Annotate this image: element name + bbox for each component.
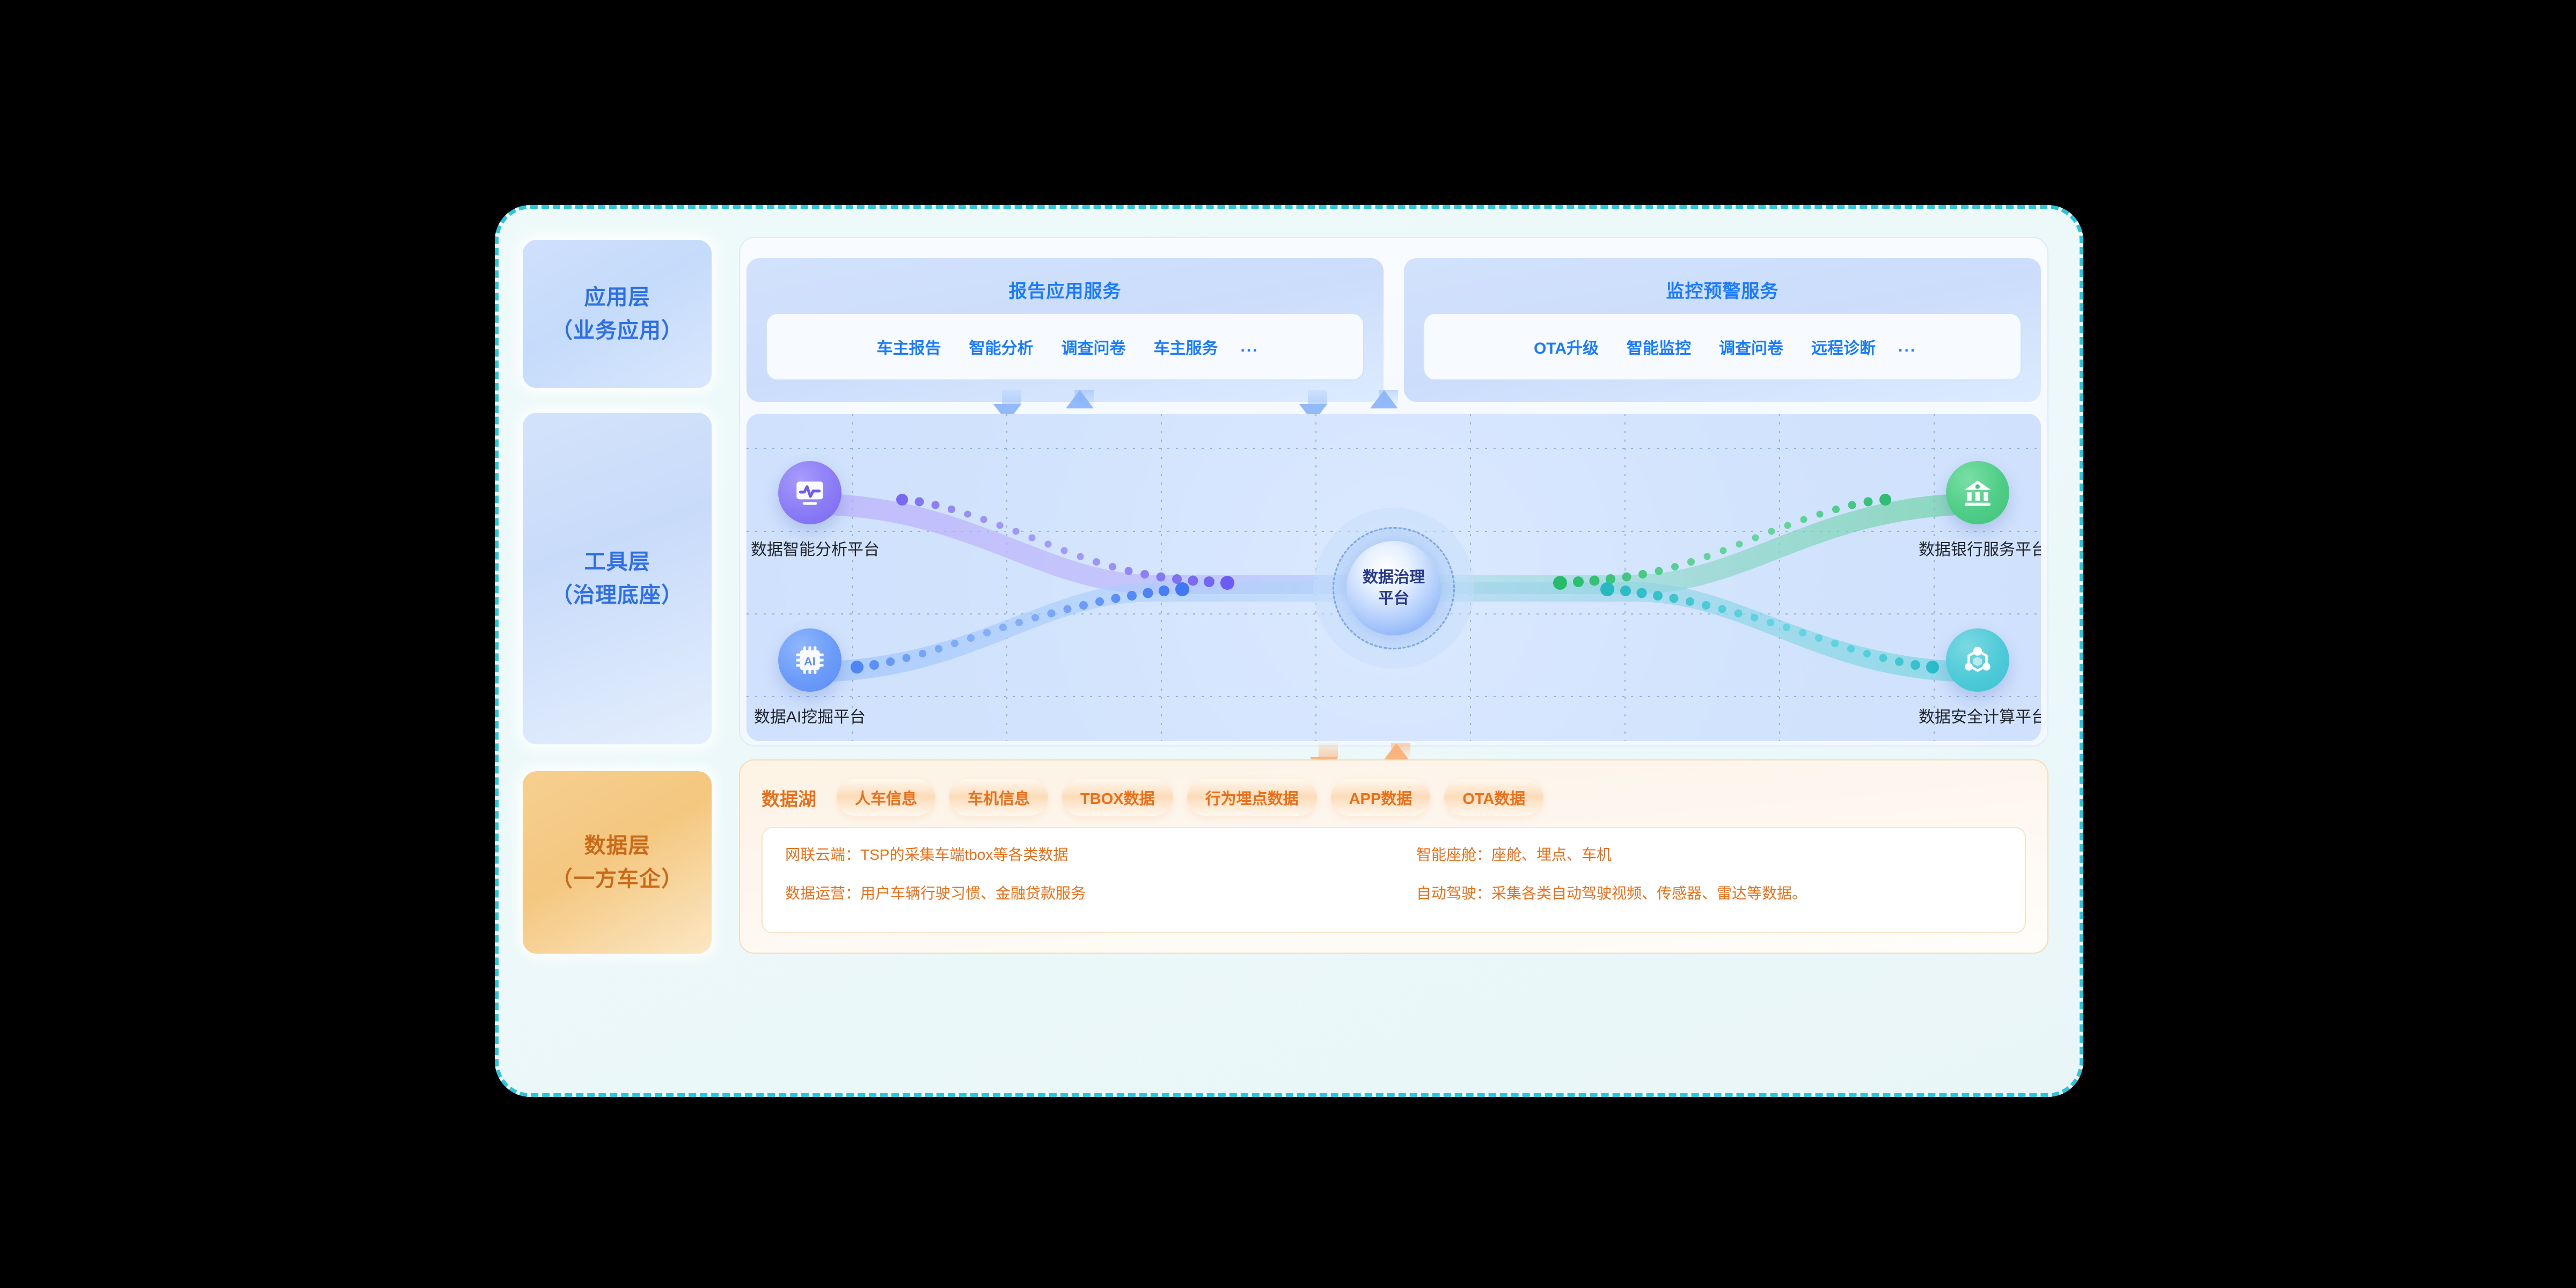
chip-monitor-more[interactable]: ... [1890, 338, 1925, 356]
data-tag-1[interactable]: 车机信息 [949, 779, 1048, 816]
data-layer-panel: 数据湖 人车信息 车机信息 TBOX数据 行为埋点数据 APP数据 OTA数据 … [739, 759, 2048, 954]
diagram-canvas: 应用层 （业务应用） 工具层 （治理底座） 数据层 （一方车企） 报告应用服务 … [0, 0, 2576, 1288]
data-tag-2[interactable]: TBOX数据 [1062, 779, 1173, 816]
monitor-pulse-icon [778, 461, 841, 524]
node-data-analysis-platform[interactable]: 数据智能分析平台 [751, 461, 869, 560]
data-lake-tag-row: 数据湖 人车信息 车机信息 TBOX数据 行为埋点数据 APP数据 OTA数据 [762, 777, 2026, 818]
layer-tool-title: 工具层 [551, 545, 683, 579]
chip-report-3[interactable]: 车主服务 [1139, 335, 1232, 358]
layer-data-subtitle: （一方车企） [551, 862, 683, 896]
arrow-down-app-to-tool-left [998, 390, 1021, 404]
layer-tool-subtitle: （治理底座） [551, 579, 683, 612]
chip-report-0[interactable]: 车主报告 [862, 335, 955, 358]
node-label-data-security: 数据安全计算平台 [1919, 704, 2037, 727]
application-services-row: 报告应用服务 车主报告 智能分析 调查问卷 车主服务 ... 监控预警服务 OT… [747, 258, 2041, 402]
data-details-left-column: 网联云端：TSP的采集车端tbox等各类数据 数据运营：用户车辆行驶习惯、金融贷… [763, 828, 1394, 932]
ai-chip-icon: AI [778, 628, 841, 692]
data-tag-0[interactable]: 人车信息 [837, 779, 935, 816]
chip-report-more[interactable]: ... [1232, 338, 1267, 356]
data-detail-left-1: 数据运营：用户车辆行驶习惯、金融贷款服务 [785, 886, 1394, 901]
outer-dashed-frame: 应用层 （业务应用） 工具层 （治理底座） 数据层 （一方车企） 报告应用服务 … [495, 205, 2083, 1097]
hub-title-line1: 数据治理 [1363, 569, 1425, 586]
data-details-right-column: 智能座舱：座舱、埋点、车机 自动驾驶：采集各类自动驾驶视频、传感器、雷达等数据。 [1394, 828, 2025, 932]
layer-application-subtitle: （业务应用） [551, 314, 683, 347]
hub-core: 数据治理 平台 [1346, 541, 1441, 635]
node-label-data-bank: 数据银行服务平台 [1919, 536, 2037, 560]
bank-icon [1946, 461, 2009, 524]
arrow-down-app-to-tool-right [1304, 390, 1327, 404]
arrow-down-tool-to-data [1314, 743, 1338, 757]
data-detail-right-1: 自动驾驶：采集各类自动驾驶视频、传感器、雷达等数据。 [1416, 886, 2025, 901]
chip-monitor-2[interactable]: 调查问卷 [1705, 335, 1797, 358]
layer-tool-text: 工具层 （治理底座） [551, 545, 683, 612]
layer-data-text: 数据层 （一方车企） [551, 829, 683, 896]
svg-text:AI: AI [804, 654, 816, 668]
service-card-monitor[interactable]: 监控预警服务 OTA升级 智能监控 调查问卷 远程诊断 ... [1404, 258, 2041, 402]
arrow-up-tool-to-app-left [1070, 390, 1094, 404]
node-label-data-analysis: 数据智能分析平台 [751, 536, 869, 560]
data-tag-3[interactable]: 行为埋点数据 [1187, 779, 1317, 816]
secure-network-icon [1946, 628, 2009, 692]
layer-card-application[interactable]: 应用层 （业务应用） [523, 240, 712, 388]
node-data-ai-mining-platform[interactable]: AI 数据AI挖掘平台 [751, 628, 869, 727]
hub-data-governance-platform[interactable]: 数据治理 平台 [1313, 508, 1474, 669]
service-chipbox-report: 车主报告 智能分析 调查问卷 车主服务 ... [766, 313, 1364, 380]
chip-monitor-3[interactable]: 远程诊断 [1797, 335, 1890, 358]
node-data-bank-platform[interactable]: 数据银行服务平台 [1919, 461, 2037, 560]
service-title-report: 报告应用服务 [1009, 276, 1122, 303]
arrow-up-tool-to-app-right [1374, 390, 1398, 404]
layer-card-data[interactable]: 数据层 （一方车企） [523, 771, 712, 954]
node-data-security-platform[interactable]: 数据安全计算平台 [1919, 628, 2037, 727]
data-tag-5[interactable]: OTA数据 [1444, 779, 1543, 816]
chip-report-2[interactable]: 调查问卷 [1047, 335, 1139, 358]
chip-monitor-0[interactable]: OTA升级 [1520, 335, 1613, 358]
layer-card-tool[interactable]: 工具层 （治理底座） [523, 413, 712, 744]
data-lake-title: 数据湖 [762, 785, 816, 811]
node-label-data-ai-mining: 数据AI挖掘平台 [751, 704, 869, 727]
service-chipbox-monitor: OTA升级 智能监控 调查问卷 远程诊断 ... [1423, 313, 2022, 380]
layer-application-title: 应用层 [551, 281, 683, 314]
layer-data-title: 数据层 [551, 829, 683, 862]
tool-layer-panel: 数据治理 平台 数据智能分析平台 [747, 414, 2041, 741]
hub-title-line2: 平台 [1378, 590, 1409, 607]
layer-application-text: 应用层 （业务应用） [551, 281, 683, 347]
service-title-monitor: 监控预警服务 [1666, 276, 1779, 303]
data-detail-left-0: 网联云端：TSP的采集车端tbox等各类数据 [785, 847, 1394, 862]
arrow-up-data-to-tool [1387, 743, 1410, 757]
service-card-report[interactable]: 报告应用服务 车主报告 智能分析 调查问卷 车主服务 ... [747, 258, 1384, 402]
chip-report-1[interactable]: 智能分析 [955, 335, 1047, 358]
chip-monitor-1[interactable]: 智能监控 [1613, 335, 1705, 358]
data-tag-4[interactable]: APP数据 [1331, 779, 1431, 816]
data-detail-right-0: 智能座舱：座舱、埋点、车机 [1416, 847, 2025, 862]
data-details-box: 网联云端：TSP的采集车端tbox等各类数据 数据运营：用户车辆行驶习惯、金融贷… [762, 827, 2026, 933]
